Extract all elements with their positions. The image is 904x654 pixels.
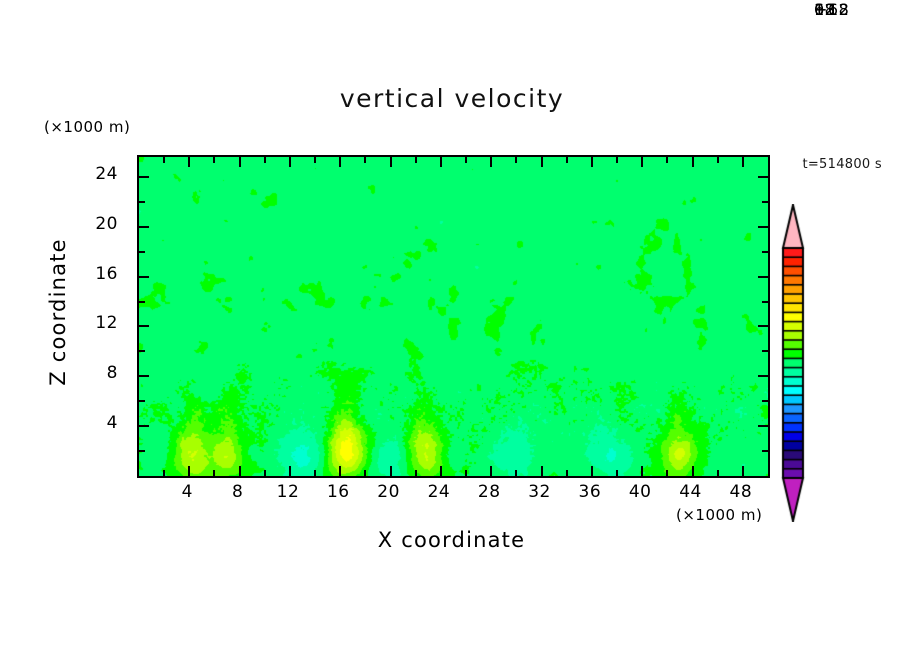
y-tick-label: 20 (80, 214, 118, 234)
page-title: vertical velocity (0, 84, 904, 113)
x-tick-major (440, 466, 442, 477)
x-tick-top-major (188, 156, 190, 167)
x-tick-top-major (742, 156, 744, 167)
x-tick-top-minor (465, 156, 467, 163)
colorbar-tick-label: −18 (814, 0, 849, 19)
y-tick-major (138, 276, 149, 278)
y-tick-minor (138, 450, 145, 452)
y-tick-right-major (758, 276, 769, 278)
x-tick-top-major (641, 156, 643, 167)
y-tick-right-major (758, 425, 769, 427)
x-tick-major (289, 466, 291, 477)
x-tick-top-minor (666, 156, 668, 163)
y-tick-right-minor (762, 400, 769, 402)
x-tick-major (692, 466, 694, 477)
x-tick-top-minor (717, 156, 719, 163)
x-tick-top-minor (415, 156, 417, 163)
x-tick-top-major (390, 156, 392, 167)
y-tick-label: 12 (80, 313, 118, 333)
y-tick-major (138, 375, 149, 377)
x-tick-minor (163, 470, 165, 477)
y-tick-right-major (758, 226, 769, 228)
x-tick-major (339, 466, 341, 477)
x-tick-major (591, 466, 593, 477)
y-tick-label: 4 (80, 413, 118, 433)
y-axis-units-label: (×1000 m) (44, 118, 130, 136)
y-tick-major (138, 226, 149, 228)
contour-plot-area (137, 155, 770, 478)
x-tick-top-minor (213, 156, 215, 163)
x-tick-minor (415, 470, 417, 477)
simulation-time-annotation: t=514800 s (802, 157, 882, 172)
x-tick-minor (314, 470, 316, 477)
x-tick-minor (364, 470, 366, 477)
y-tick-label: 8 (80, 363, 118, 383)
y-tick-minor (138, 301, 145, 303)
y-tick-minor (138, 251, 145, 253)
x-tick-major (239, 466, 241, 477)
x-tick-major (390, 466, 392, 477)
x-tick-top-major (541, 156, 543, 167)
x-tick-minor (616, 470, 618, 477)
y-tick-major (138, 176, 149, 178)
y-tick-label: 24 (80, 164, 118, 184)
y-axis-title: Z coordinate (46, 192, 70, 432)
x-tick-minor (717, 470, 719, 477)
y-tick-major (138, 325, 149, 327)
colorbar-gradient (780, 204, 806, 522)
x-tick-minor (515, 470, 517, 477)
y-tick-right-major (758, 176, 769, 178)
x-tick-top-major (490, 156, 492, 167)
x-tick-top-major (239, 156, 241, 167)
y-tick-right-major (758, 325, 769, 327)
x-tick-major (541, 466, 543, 477)
x-tick-top-minor (616, 156, 618, 163)
y-tick-right-minor (762, 201, 769, 203)
x-tick-label: 48 (711, 482, 771, 502)
y-tick-minor (138, 350, 145, 352)
x-tick-major (490, 466, 492, 477)
y-tick-right-minor (762, 251, 769, 253)
y-tick-minor (138, 400, 145, 402)
x-tick-minor (566, 470, 568, 477)
x-tick-minor (213, 470, 215, 477)
x-tick-top-major (289, 156, 291, 167)
y-tick-right-major (758, 375, 769, 377)
x-tick-top-minor (264, 156, 266, 163)
x-tick-top-major (692, 156, 694, 167)
x-tick-top-major (591, 156, 593, 167)
y-tick-label: 16 (80, 264, 118, 284)
x-tick-minor (465, 470, 467, 477)
x-tick-top-minor (515, 156, 517, 163)
y-tick-major (138, 425, 149, 427)
x-tick-top-minor (364, 156, 366, 163)
x-tick-major (188, 466, 190, 477)
x-axis-title: X coordinate (137, 528, 766, 552)
y-tick-right-minor (762, 450, 769, 452)
x-tick-top-major (339, 156, 341, 167)
x-tick-top-minor (163, 156, 165, 163)
x-tick-top-minor (566, 156, 568, 163)
y-tick-right-minor (762, 301, 769, 303)
x-tick-major (742, 466, 744, 477)
x-tick-minor (666, 470, 668, 477)
x-tick-major (641, 466, 643, 477)
x-tick-minor (264, 470, 266, 477)
colorbar (780, 204, 806, 522)
x-tick-top-major (440, 156, 442, 167)
y-tick-minor (138, 201, 145, 203)
x-axis-units-label: (×1000 m) (676, 506, 762, 524)
vertical-velocity-field (139, 157, 768, 476)
y-tick-right-minor (762, 350, 769, 352)
x-tick-top-minor (314, 156, 316, 163)
